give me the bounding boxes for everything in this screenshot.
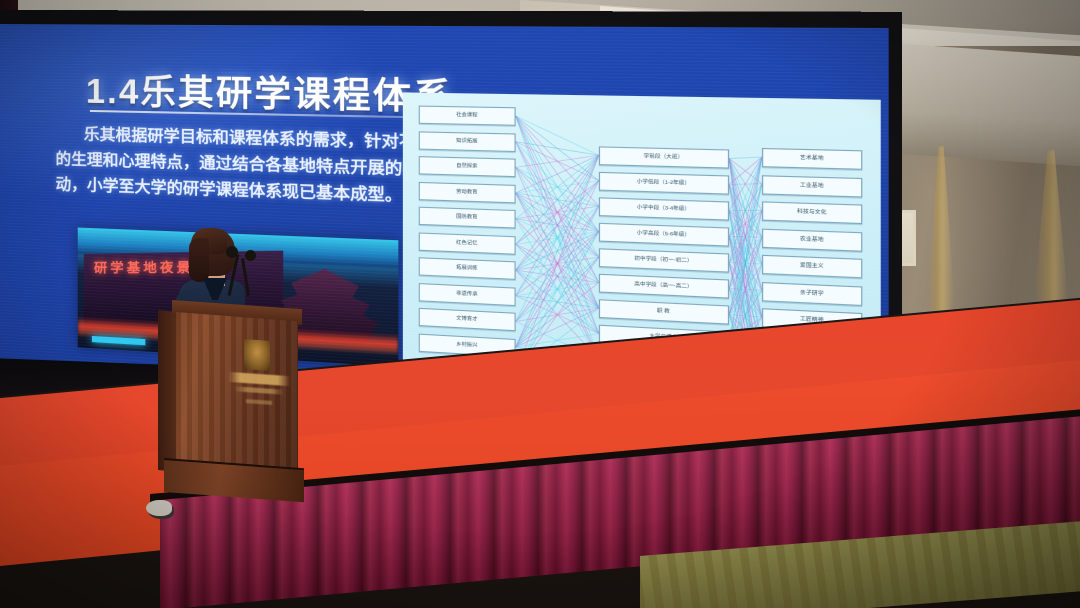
diagram-box: 工业基地 [762,175,862,197]
diagram-box: 红色记忆 [419,232,516,254]
podium-emblem-icon [244,339,270,371]
diagram-box: 文博育才 [419,308,516,332]
microphone-icon-2 [245,250,256,261]
wooden-podium [172,300,302,510]
diagram-box: 劳动教育 [419,181,516,202]
diagram-box: 小学中段（3-4年级） [599,197,729,220]
diagram-box: 拓展训练 [419,257,516,280]
conference-room-scene: 1.4乐其研学课程体系 乐其根据研学目标和课程体系的需求，针对不同年龄段学生的生… [0,0,1080,608]
diagram-box: 国防教育 [419,207,516,229]
diagram-box: 艺术基地 [762,148,862,170]
floor-cable [146,500,172,516]
diagram-box: 小学高段（5-6年级） [599,223,729,247]
diagram-box: 学前段（大班） [599,146,729,168]
diagram-box: 亲子研学 [762,281,862,305]
diagram-box: 高中学段（高一-高二） [599,274,729,299]
presenter-hair-side [189,238,209,282]
diagram-box: 农业基地 [762,228,862,251]
diagram-box: 职 教 [599,299,729,324]
diagram-box: 小学低段（1-2年级） [599,172,729,195]
diagram-box: 社会课程 [419,106,516,126]
diagram-box: 知识拓展 [419,131,516,152]
diagram-box: 爱国主义 [762,255,862,279]
diagram-column-themes: 社会课程知识拓展自然探索劳动教育国防教育红色记忆拓展训练非遗传承文博育才乡村振兴… [419,106,516,383]
diagram-box: 非遗传承 [419,282,516,305]
diagram-box: 初中学段（初一-初二） [599,248,729,272]
diagram-box: 自然探索 [419,156,516,177]
diagram-box: 科技与文化 [762,201,862,224]
microphone-icon-1 [226,246,238,258]
